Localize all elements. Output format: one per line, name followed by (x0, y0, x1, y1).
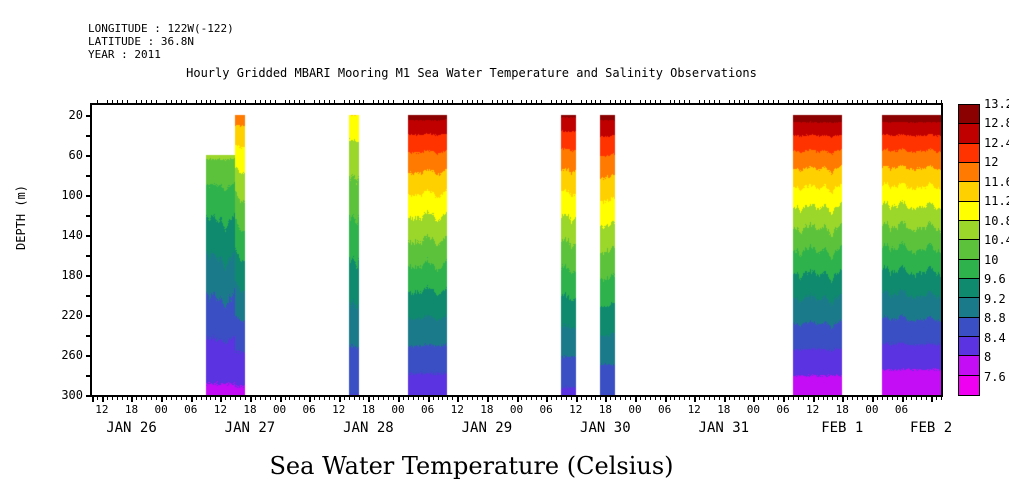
x-axis-tick-top (329, 100, 330, 105)
x-axis-tick (196, 395, 197, 400)
x-axis-tick-top (595, 100, 596, 105)
x-axis-tick-top (768, 100, 769, 105)
station-metadata: LONGITUDE : 122W(-122) LATITUDE : 36.8N … (88, 22, 234, 61)
x-axis-tick-top (275, 100, 276, 105)
colorbar-tick-label: 12.8 (984, 116, 1009, 130)
x-axis-tick (521, 395, 522, 400)
x-axis-tick-top (640, 100, 641, 105)
x-axis-tick (714, 395, 715, 400)
colorbar-tick-label: 8.4 (984, 331, 1006, 345)
x-axis-tick-top (413, 100, 414, 105)
x-axis-hour-label: 12 (451, 403, 464, 416)
x-axis-hour-label: 18 (599, 403, 612, 416)
x-axis-tick (625, 395, 626, 400)
x-axis-major-tick (902, 395, 904, 402)
x-axis-tick (581, 395, 582, 400)
x-axis-tick (201, 395, 202, 400)
x-axis-tick-top (620, 100, 621, 105)
x-axis-major-tick (191, 395, 193, 402)
x-axis-tick (334, 395, 335, 400)
x-axis-tick-top (719, 100, 720, 105)
y-axis-tick (86, 375, 92, 377)
colorbar-tick-label: 7.6 (984, 370, 1006, 384)
x-axis-major-tick (872, 395, 874, 402)
x-axis-tick-top (294, 100, 295, 105)
x-axis-tick (704, 395, 705, 400)
x-axis-tick-top (556, 100, 557, 105)
x-axis-tick-top (403, 100, 404, 105)
x-axis-tick (452, 395, 453, 400)
y-axis-tick-label: 180 (37, 268, 92, 282)
x-axis-tick (911, 395, 912, 400)
x-axis-tick-top (689, 100, 690, 105)
x-axis-major-tick (131, 395, 133, 402)
x-axis-tick (921, 395, 922, 400)
colorbar-tick-label: 11.6 (984, 175, 1009, 189)
x-axis-tick-top (734, 100, 735, 105)
x-axis-tick-top (289, 100, 290, 105)
x-axis-tick (645, 395, 646, 400)
x-axis-tick (265, 395, 266, 400)
x-axis-hour-label: 00 (865, 403, 878, 416)
x-axis-major-tick (635, 395, 637, 402)
x-axis-tick (166, 395, 167, 400)
x-axis-hour-label: 18 (362, 403, 375, 416)
x-axis-tick-top (393, 100, 394, 105)
x-axis-tick-top (615, 100, 616, 105)
x-axis-tick-top (472, 100, 473, 105)
x-axis-tick (107, 395, 108, 400)
x-axis-tick-top (586, 100, 587, 105)
x-axis-tick (423, 395, 424, 400)
colorbar-band (959, 182, 979, 201)
x-axis-tick-top (235, 100, 236, 105)
x-axis-tick-top (852, 100, 853, 105)
x-axis-tick-top (837, 100, 838, 105)
x-axis-tick-top (447, 100, 448, 105)
x-axis-major-tick (339, 395, 341, 402)
x-axis-tick (709, 395, 710, 400)
x-axis-tick (679, 395, 680, 400)
x-axis-tick (141, 395, 142, 400)
x-axis-tick-top (186, 100, 187, 105)
x-axis-tick (600, 395, 601, 400)
y-axis-tick (86, 295, 92, 297)
x-axis-tick-top (270, 100, 271, 105)
x-axis-major-tick (487, 395, 489, 402)
x-axis-tick-top (319, 100, 320, 105)
x-axis-tick-top (857, 100, 858, 105)
x-axis-tick-top (650, 100, 651, 105)
x-axis-tick-top (748, 100, 749, 105)
x-axis-hour-label: 06 (421, 403, 434, 416)
x-axis-tick-top (862, 100, 863, 105)
x-axis-tick (788, 395, 789, 400)
x-axis-tick-top (334, 100, 335, 105)
x-axis-tick-top (462, 100, 463, 105)
y-axis-tick-label: 300 (37, 388, 92, 402)
x-axis-tick (847, 395, 848, 400)
colorbar-tick-label: 13.2 (984, 97, 1009, 111)
x-axis-tick-top (363, 100, 364, 105)
x-axis-tick-top (581, 100, 582, 105)
x-axis-tick (447, 395, 448, 400)
x-axis-tick (734, 395, 735, 400)
x-axis-tick (122, 395, 123, 400)
x-axis-hour-label: 12 (214, 403, 227, 416)
x-axis-tick-top (314, 100, 315, 105)
x-axis-major-tick (546, 395, 548, 402)
y-axis-tick-label: 20 (37, 108, 92, 122)
x-axis-label: Sea Water Temperature (Celsius) (0, 452, 943, 480)
x-axis-tick (230, 395, 231, 400)
x-axis-tick (215, 395, 216, 400)
x-axis-tick (363, 395, 364, 400)
y-axis-tick-label: 140 (37, 228, 92, 242)
x-axis-hour-label: 06 (895, 403, 908, 416)
x-axis-tick-top (433, 100, 434, 105)
x-axis-tick (586, 395, 587, 400)
x-axis-tick (670, 395, 671, 400)
x-axis-tick (289, 395, 290, 400)
x-axis-tick-top (112, 100, 113, 105)
x-axis-tick (689, 395, 690, 400)
x-axis-tick-top (442, 100, 443, 105)
x-axis-day-label: FEB 1 (821, 420, 863, 436)
x-axis-tick (512, 395, 513, 400)
x-axis-day-label: FEB 2 (910, 420, 952, 436)
x-axis-tick-top (867, 100, 868, 105)
x-axis-tick-top (467, 100, 468, 105)
x-axis-tick-top (378, 100, 379, 105)
x-axis-tick-top (127, 100, 128, 105)
x-axis-tick-top (349, 100, 350, 105)
x-axis-tick (304, 395, 305, 400)
x-axis-tick (260, 395, 261, 400)
x-axis-tick-top (793, 100, 794, 105)
x-axis-tick-top (512, 100, 513, 105)
x-axis-major-tick (783, 395, 785, 402)
x-axis-tick-top (803, 100, 804, 105)
colorbar-band (959, 144, 979, 163)
x-axis-tick-top (304, 100, 305, 105)
x-axis-tick (595, 395, 596, 400)
x-axis-tick-top (906, 100, 907, 105)
x-axis-tick-top (571, 100, 572, 105)
x-axis-major-tick (102, 395, 104, 402)
x-axis-hour-label: 00 (391, 403, 404, 416)
x-axis-tick-top (655, 100, 656, 105)
x-axis-tick (438, 395, 439, 400)
x-axis-tick (660, 395, 661, 400)
x-axis-tick (378, 395, 379, 400)
x-axis-tick (615, 395, 616, 400)
x-axis-tick (275, 395, 276, 400)
x-axis-tick (502, 395, 503, 400)
x-axis-major-tick (576, 395, 578, 402)
colorbar-band (959, 163, 979, 182)
colorbar-tick-label: 11.2 (984, 194, 1009, 208)
x-axis-tick (210, 395, 211, 400)
colorbar-tick-label: 9.6 (984, 272, 1006, 286)
x-axis-tick (433, 395, 434, 400)
x-axis-hour-label: 00 (273, 403, 286, 416)
x-axis-tick (319, 395, 320, 400)
x-axis-tick-top (215, 100, 216, 105)
latitude-text: LATITUDE : 36.8N (88, 35, 234, 48)
colorbar-band (959, 337, 979, 356)
x-axis-tick-top (709, 100, 710, 105)
x-axis-tick (897, 395, 898, 400)
colorbar-band (959, 279, 979, 298)
x-axis-tick-top (324, 100, 325, 105)
x-axis-tick (373, 395, 374, 400)
x-axis-tick-top (230, 100, 231, 105)
x-axis-tick-top (452, 100, 453, 105)
x-axis-tick (403, 395, 404, 400)
x-axis-tick (906, 395, 907, 400)
x-axis-tick-top (255, 100, 256, 105)
x-axis-tick-top (171, 100, 172, 105)
x-axis-tick-top (151, 100, 152, 105)
x-axis-tick-top (936, 100, 937, 105)
x-axis-tick-top (832, 100, 833, 105)
x-axis-tick-top (136, 100, 137, 105)
x-axis-tick (497, 395, 498, 400)
x-axis-tick-top (225, 100, 226, 105)
x-axis-tick-top (704, 100, 705, 105)
x-axis-hour-label: 06 (184, 403, 197, 416)
x-axis-tick (882, 395, 883, 400)
x-axis-day-label: JAN 31 (699, 420, 750, 436)
x-axis-major-tick (813, 395, 815, 402)
x-axis-tick (551, 395, 552, 400)
x-axis-tick-top (808, 100, 809, 105)
x-axis-tick-top (117, 100, 118, 105)
x-axis-tick (344, 395, 345, 400)
x-axis-tick-top (926, 100, 927, 105)
colorbar-tick-label: 10.4 (984, 233, 1009, 247)
x-axis-tick (916, 395, 917, 400)
x-axis-tick (778, 395, 779, 400)
x-axis-tick (324, 395, 325, 400)
contour-plot-area: 2060100140180220260300121800061218000612… (90, 103, 943, 397)
x-axis-tick (225, 395, 226, 400)
x-axis-major-tick (250, 395, 252, 402)
x-axis-major-tick (457, 395, 459, 402)
colorbar-tick-label: 12.4 (984, 136, 1009, 150)
x-axis-tick-top (739, 100, 740, 105)
x-axis-tick (758, 395, 759, 400)
longitude-text: LONGITUDE : 122W(-122) (88, 22, 234, 35)
colorbar-band (959, 318, 979, 337)
x-axis-tick-top (201, 100, 202, 105)
colorbar-band (959, 376, 979, 395)
x-axis-major-tick (931, 395, 933, 402)
x-axis-tick (388, 395, 389, 400)
x-axis-tick (255, 395, 256, 400)
x-axis-tick (729, 395, 730, 400)
x-axis-tick-top (818, 100, 819, 105)
x-axis-hour-label: 12 (806, 403, 819, 416)
x-axis-tick (591, 395, 592, 400)
x-axis-tick-top (773, 100, 774, 105)
x-axis-tick-top (206, 100, 207, 105)
x-axis-tick-top (758, 100, 759, 105)
x-axis-tick-top (630, 100, 631, 105)
x-axis-tick-top (541, 100, 542, 105)
x-axis-tick (442, 395, 443, 400)
x-axis-hour-label: 18 (243, 403, 256, 416)
colorbar-tick-label: 8.8 (984, 311, 1006, 325)
x-axis-tick (117, 395, 118, 400)
x-axis-tick-top (502, 100, 503, 105)
x-axis-tick-top (921, 100, 922, 105)
colorbar-tick-label: 10.8 (984, 214, 1009, 228)
x-axis-major-tick (92, 395, 94, 402)
x-axis-tick (156, 395, 157, 400)
x-axis-tick (571, 395, 572, 400)
x-axis-tick (857, 395, 858, 400)
year-text: YEAR : 2011 (88, 48, 234, 61)
x-axis-tick (285, 395, 286, 400)
x-axis-hour-label: 18 (836, 403, 849, 416)
x-axis-tick (112, 395, 113, 400)
x-axis-tick (852, 395, 853, 400)
x-axis-tick (739, 395, 740, 400)
x-axis-tick (359, 395, 360, 400)
x-axis-tick-top (438, 100, 439, 105)
x-axis-hour-label: 00 (628, 403, 641, 416)
x-axis-hour-label: 18 (480, 403, 493, 416)
x-axis-tick (472, 395, 473, 400)
x-axis-tick (768, 395, 769, 400)
x-axis-tick (206, 395, 207, 400)
x-axis-tick (146, 395, 147, 400)
x-axis-tick (887, 395, 888, 400)
x-axis-tick (773, 395, 774, 400)
x-axis-tick (127, 395, 128, 400)
x-axis-tick (136, 395, 137, 400)
x-axis-tick (531, 395, 532, 400)
x-axis-hour-label: 12 (569, 403, 582, 416)
x-axis-tick (418, 395, 419, 400)
x-axis-tick (926, 395, 927, 400)
x-axis-tick (561, 395, 562, 400)
x-axis-day-label: JAN 27 (225, 420, 276, 436)
x-axis-tick-top (373, 100, 374, 105)
x-axis-tick-top (260, 100, 261, 105)
x-axis-tick-top (798, 100, 799, 105)
x-axis-tick-top (240, 100, 241, 105)
x-axis-hour-label: 00 (747, 403, 760, 416)
x-axis-tick (748, 395, 749, 400)
x-axis-tick-top (744, 100, 745, 105)
y-axis-label: DEPTH (m) (14, 185, 28, 250)
x-axis-tick-top (176, 100, 177, 105)
x-axis-tick-top (847, 100, 848, 105)
x-axis-tick (862, 395, 863, 400)
x-axis-tick (798, 395, 799, 400)
temperature-contour-canvas (92, 105, 941, 395)
x-axis-tick-top (887, 100, 888, 105)
x-axis-tick (620, 395, 621, 400)
y-axis-tick (86, 255, 92, 257)
x-axis-tick-top (679, 100, 680, 105)
x-axis-tick-top (210, 100, 211, 105)
x-axis-tick (97, 395, 98, 400)
x-axis-tick (803, 395, 804, 400)
x-axis-tick (674, 395, 675, 400)
x-axis-tick-top (941, 100, 942, 105)
x-axis-major-tick (368, 395, 370, 402)
x-axis-tick-top (660, 100, 661, 105)
x-axis-tick (867, 395, 868, 400)
x-axis-tick (640, 395, 641, 400)
x-axis-tick (314, 395, 315, 400)
x-axis-tick (630, 395, 631, 400)
x-axis-tick (536, 395, 537, 400)
colorbar (958, 104, 980, 396)
x-axis-major-tick (517, 395, 519, 402)
x-axis-tick-top (359, 100, 360, 105)
x-axis-tick (610, 395, 611, 400)
x-axis-tick-top (897, 100, 898, 105)
x-axis-tick-top (551, 100, 552, 105)
colorbar-band (959, 298, 979, 317)
x-axis-tick-top (477, 100, 478, 105)
x-axis-tick (566, 395, 567, 400)
x-axis-hour-label: 06 (539, 403, 552, 416)
x-axis-tick-top (763, 100, 764, 105)
x-axis-day-label: JAN 30 (580, 420, 631, 436)
colorbar-tick-label: 10 (984, 253, 998, 267)
x-axis-hour-label: 18 (717, 403, 730, 416)
x-axis-tick (699, 395, 700, 400)
x-axis-tick (151, 395, 152, 400)
x-axis-tick-top (181, 100, 182, 105)
x-axis-tick-top (521, 100, 522, 105)
x-axis-tick (329, 395, 330, 400)
x-axis-tick-top (492, 100, 493, 105)
x-axis-tick (877, 395, 878, 400)
x-axis-tick-top (354, 100, 355, 105)
x-axis-tick-top (684, 100, 685, 105)
x-axis-major-tick (428, 395, 430, 402)
x-axis-tick-top (536, 100, 537, 105)
x-axis-tick (941, 395, 942, 400)
x-axis-tick-top (507, 100, 508, 105)
x-axis-tick (526, 395, 527, 400)
x-axis-hour-label: 12 (332, 403, 345, 416)
x-axis-tick (892, 395, 893, 400)
x-axis-tick (354, 395, 355, 400)
x-axis-tick (462, 395, 463, 400)
x-axis-major-tick (161, 395, 163, 402)
x-axis-major-tick (605, 395, 607, 402)
y-axis-tick (86, 335, 92, 337)
x-axis-tick (818, 395, 819, 400)
x-axis-tick-top (877, 100, 878, 105)
x-axis-major-tick (309, 395, 311, 402)
x-axis-tick-top (423, 100, 424, 105)
x-axis-tick-top (911, 100, 912, 105)
colorbar-band (959, 356, 979, 375)
x-axis-hour-label: 12 (688, 403, 701, 416)
x-axis-major-tick (398, 395, 400, 402)
colorbar-tick-label: 8 (984, 350, 991, 364)
y-axis-tick (86, 135, 92, 137)
